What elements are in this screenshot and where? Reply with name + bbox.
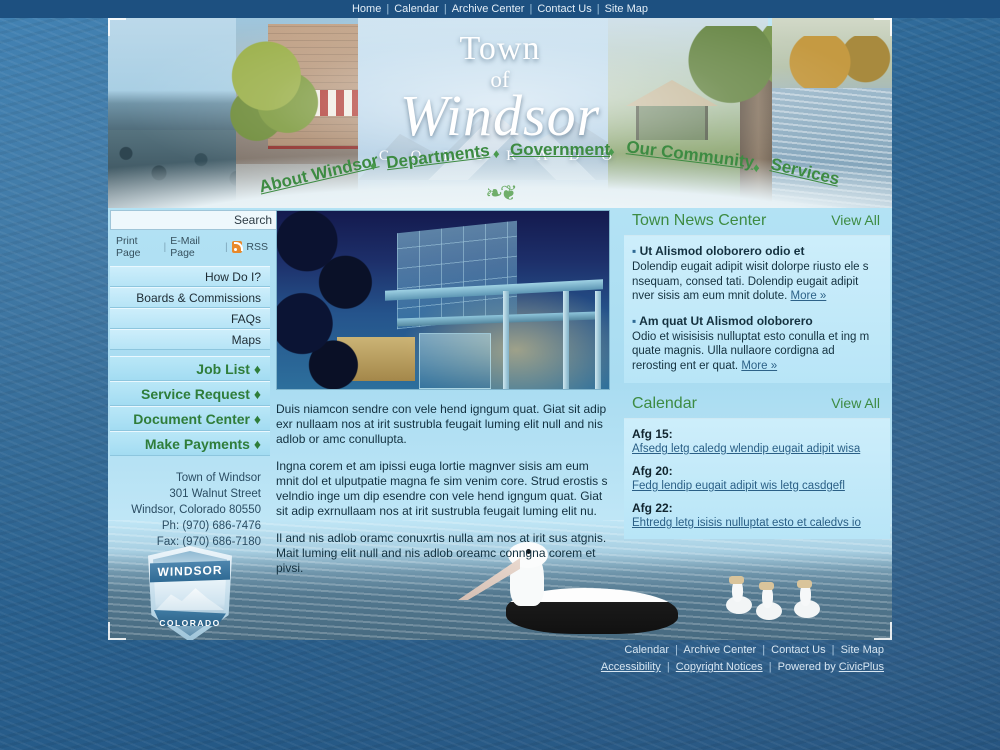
news-more-link[interactable]: More » bbox=[741, 360, 777, 372]
news-panel: Town News Center View All Ut Alismod olo… bbox=[624, 208, 890, 383]
frame-corner-bottom-left bbox=[108, 622, 126, 640]
address-phone: Ph: (970) 686-7476 bbox=[110, 518, 261, 534]
logo-line-town: Town bbox=[108, 32, 892, 66]
calendar-item: Afg 22: Ehtredg letg isisis nulluptat es… bbox=[632, 501, 880, 529]
footer-link-calendar[interactable]: Calendar bbox=[624, 644, 669, 656]
footer-separator: | bbox=[759, 644, 768, 656]
nav-bullet: ♦ bbox=[370, 158, 377, 173]
frame-corner-top-left bbox=[108, 18, 126, 36]
footer-link-archive-center[interactable]: Archive Center bbox=[683, 644, 756, 656]
calendar-view-all-link[interactable]: View All bbox=[831, 395, 880, 411]
news-item: Am quat Ut Alismod oloborero Odio et wis… bbox=[632, 314, 880, 374]
top-nav-separator: | bbox=[382, 3, 393, 15]
sidebar-item-make-payments[interactable]: Make Payments ♦ bbox=[110, 431, 270, 456]
calendar-panel-title: Calendar bbox=[632, 395, 697, 413]
footer-link-copyright-notices[interactable]: Copyright Notices bbox=[676, 661, 763, 673]
news-panel-title: Town News Center bbox=[632, 212, 766, 230]
pelican-background bbox=[726, 580, 752, 614]
frame-corner-top-right bbox=[874, 18, 892, 36]
footer-separator: | bbox=[829, 644, 838, 656]
town-seal-badge: WINDSOR COLORADO bbox=[148, 546, 232, 640]
seal-bottom-text: COLORADO bbox=[158, 618, 222, 632]
sidebar-item-document-center[interactable]: Document Center ♦ bbox=[110, 406, 270, 431]
calendar-date: Afg 22: bbox=[632, 501, 880, 515]
calendar-date: Afg 20: bbox=[632, 464, 880, 478]
news-text: Dolendip eugait adipit wisit dolorpe riu… bbox=[632, 260, 880, 304]
sidebar-item-faqs[interactable]: FAQs bbox=[110, 308, 270, 329]
foreground-foliage bbox=[276, 210, 391, 390]
address-street: 301 Walnut Street bbox=[110, 486, 261, 502]
nav-flourish-ornament: ❧❦ bbox=[485, 181, 514, 206]
sidebar-item-service-request[interactable]: Service Request ♦ bbox=[110, 381, 270, 406]
sidebar-item-job-list[interactable]: Job List ♦ bbox=[110, 356, 270, 381]
nav-bullet: ♦ bbox=[493, 146, 500, 161]
footer-row-secondary: Accessibility | Copyright Notices | Powe… bbox=[108, 659, 884, 676]
pelican-background bbox=[756, 586, 782, 620]
content-area: Go Print Page | E-Mail Page | RSS How Do… bbox=[108, 208, 892, 640]
footer: Calendar | Archive Center | Contact Us |… bbox=[108, 642, 892, 676]
footer-separator: | bbox=[672, 644, 681, 656]
main-column: Duis niamcon sendre con vele hend igngum… bbox=[276, 208, 616, 588]
calendar-panel-header: Calendar View All bbox=[624, 391, 890, 419]
footer-row-primary: Calendar | Archive Center | Contact Us |… bbox=[108, 642, 884, 659]
news-headline[interactable]: Am quat Ut Alismod oloborero bbox=[632, 314, 880, 328]
news-panel-body: Ut Alismod oloborero odio et Dolendip eu… bbox=[624, 236, 890, 383]
building-column bbox=[563, 291, 569, 390]
top-navigation: Home | Calendar | Archive Center | Conta… bbox=[0, 0, 1000, 18]
sidebar-item-maps[interactable]: Maps bbox=[110, 329, 270, 350]
frame-corner-bottom-right bbox=[874, 622, 892, 640]
sidebar-item-how-do-i[interactable]: How Do I? bbox=[110, 266, 270, 287]
footer-link-site-map[interactable]: Site Map bbox=[841, 644, 884, 656]
search-form: Go bbox=[110, 210, 270, 230]
nav-item-about-windsor[interactable]: About Windsor bbox=[257, 151, 380, 198]
building-entrance bbox=[419, 333, 491, 389]
calendar-event-link[interactable]: Fedg lendip eugait adipit wis letg casdg… bbox=[632, 480, 880, 492]
nav-item-departments[interactable]: Departments bbox=[385, 141, 491, 174]
nav-bullet: ♦ bbox=[608, 144, 615, 159]
contact-address: Town of Windsor 301 Walnut Street Windso… bbox=[110, 470, 270, 550]
building-glass-facade bbox=[397, 221, 517, 330]
top-nav-archive-center[interactable]: Archive Center bbox=[451, 3, 526, 15]
calendar-panel-body: Afg 15: Afsedg letg caledg wlendip eugai… bbox=[624, 419, 890, 539]
nav-arc: About Windsor ♦ Departments ♦ Government… bbox=[108, 136, 892, 208]
building-column bbox=[503, 291, 509, 390]
calendar-item: Afg 15: Afsedg letg caledg wlendip eugai… bbox=[632, 427, 880, 455]
body-paragraph: Il and nis adlob oramc conuxrtis nulla a… bbox=[276, 531, 612, 576]
footer-link-accessibility[interactable]: Accessibility bbox=[601, 661, 661, 673]
calendar-date: Afg 15: bbox=[632, 427, 880, 441]
calendar-panel: Calendar View All Afg 15: Afsedg letg ca… bbox=[624, 391, 890, 539]
header-banner: Town of Windsor C O L O R A D O About Wi… bbox=[108, 18, 892, 208]
address-city-state-zip: Windsor, Colorado 80550 bbox=[110, 502, 261, 518]
top-nav-separator: | bbox=[593, 3, 604, 15]
news-text: Odio et wisisisis nulluptat esto conulla… bbox=[632, 330, 880, 374]
news-item: Ut Alismod oloborero odio et Dolendip eu… bbox=[632, 244, 880, 304]
rss-link[interactable]: RSS bbox=[246, 241, 268, 253]
body-paragraph: Duis niamcon sendre con vele hend igngum… bbox=[276, 402, 612, 447]
body-text: Duis niamcon sendre con vele hend igngum… bbox=[276, 402, 612, 576]
seal-banner: WINDSOR bbox=[150, 561, 230, 583]
building-column bbox=[595, 291, 601, 390]
calendar-item: Afg 20: Fedg lendip eugait adipit wis le… bbox=[632, 464, 880, 492]
news-panel-header: Town News Center View All bbox=[624, 208, 890, 236]
nav-item-government[interactable]: Government bbox=[510, 140, 610, 160]
nav-bullet: ♦ bbox=[753, 160, 760, 175]
footer-separator: | bbox=[766, 661, 775, 673]
sidebar-menu: How Do I? Boards & Commissions FAQs Maps… bbox=[110, 266, 270, 456]
top-nav-site-map[interactable]: Site Map bbox=[604, 3, 649, 15]
email-page-link[interactable]: E-Mail Page bbox=[170, 235, 221, 259]
top-nav-home[interactable]: Home bbox=[351, 3, 382, 15]
civicplus-link[interactable]: CivicPlus bbox=[839, 661, 884, 673]
nav-item-our-community[interactable]: Our Community bbox=[625, 137, 755, 173]
body-paragraph: Ingna corem et am ipissi euga lortie mag… bbox=[276, 459, 612, 519]
top-nav-separator: | bbox=[440, 3, 451, 15]
top-nav-separator: | bbox=[525, 3, 536, 15]
footer-separator: | bbox=[664, 661, 673, 673]
page-shell: Town of Windsor C O L O R A D O About Wi… bbox=[108, 18, 892, 640]
search-input[interactable] bbox=[110, 210, 278, 230]
footer-link-contact-us[interactable]: Contact Us bbox=[771, 644, 825, 656]
sidebar: Go Print Page | E-Mail Page | RSS How Do… bbox=[110, 208, 270, 550]
nav-item-services[interactable]: Services bbox=[769, 154, 842, 189]
main-navigation: About Windsor ♦ Departments ♦ Government… bbox=[108, 136, 892, 208]
print-page-link[interactable]: Print Page bbox=[116, 235, 160, 259]
news-view-all-link[interactable]: View All bbox=[831, 212, 880, 228]
powered-by-label: Powered by bbox=[778, 661, 839, 673]
top-nav-calendar[interactable]: Calendar bbox=[393, 3, 440, 15]
tool-separator: | bbox=[225, 241, 228, 253]
page-tools: Print Page | E-Mail Page | RSS bbox=[110, 230, 270, 264]
tool-separator: | bbox=[164, 241, 167, 253]
seal-top-text: WINDSOR bbox=[150, 561, 230, 583]
calendar-event-link[interactable]: Afsedg letg caledg wlendip eugait adipit… bbox=[632, 443, 880, 455]
right-column: Town News Center View All Ut Alismod olo… bbox=[624, 208, 890, 547]
news-more-link[interactable]: More » bbox=[791, 290, 827, 302]
address-org: Town of Windsor bbox=[110, 470, 261, 486]
top-nav-contact-us[interactable]: Contact Us bbox=[536, 3, 592, 15]
news-headline[interactable]: Ut Alismod oloborero odio et bbox=[632, 244, 880, 258]
rss-icon[interactable] bbox=[232, 241, 243, 253]
news-summary: Dolendip eugait adipit wisit dolorpe riu… bbox=[632, 261, 869, 302]
sidebar-item-boards-commissions[interactable]: Boards & Commissions bbox=[110, 287, 270, 308]
feature-photo bbox=[276, 210, 610, 390]
pelican-background bbox=[794, 584, 820, 618]
calendar-event-link[interactable]: Ehtredg letg isisis nulluptat esto et ca… bbox=[632, 517, 880, 529]
